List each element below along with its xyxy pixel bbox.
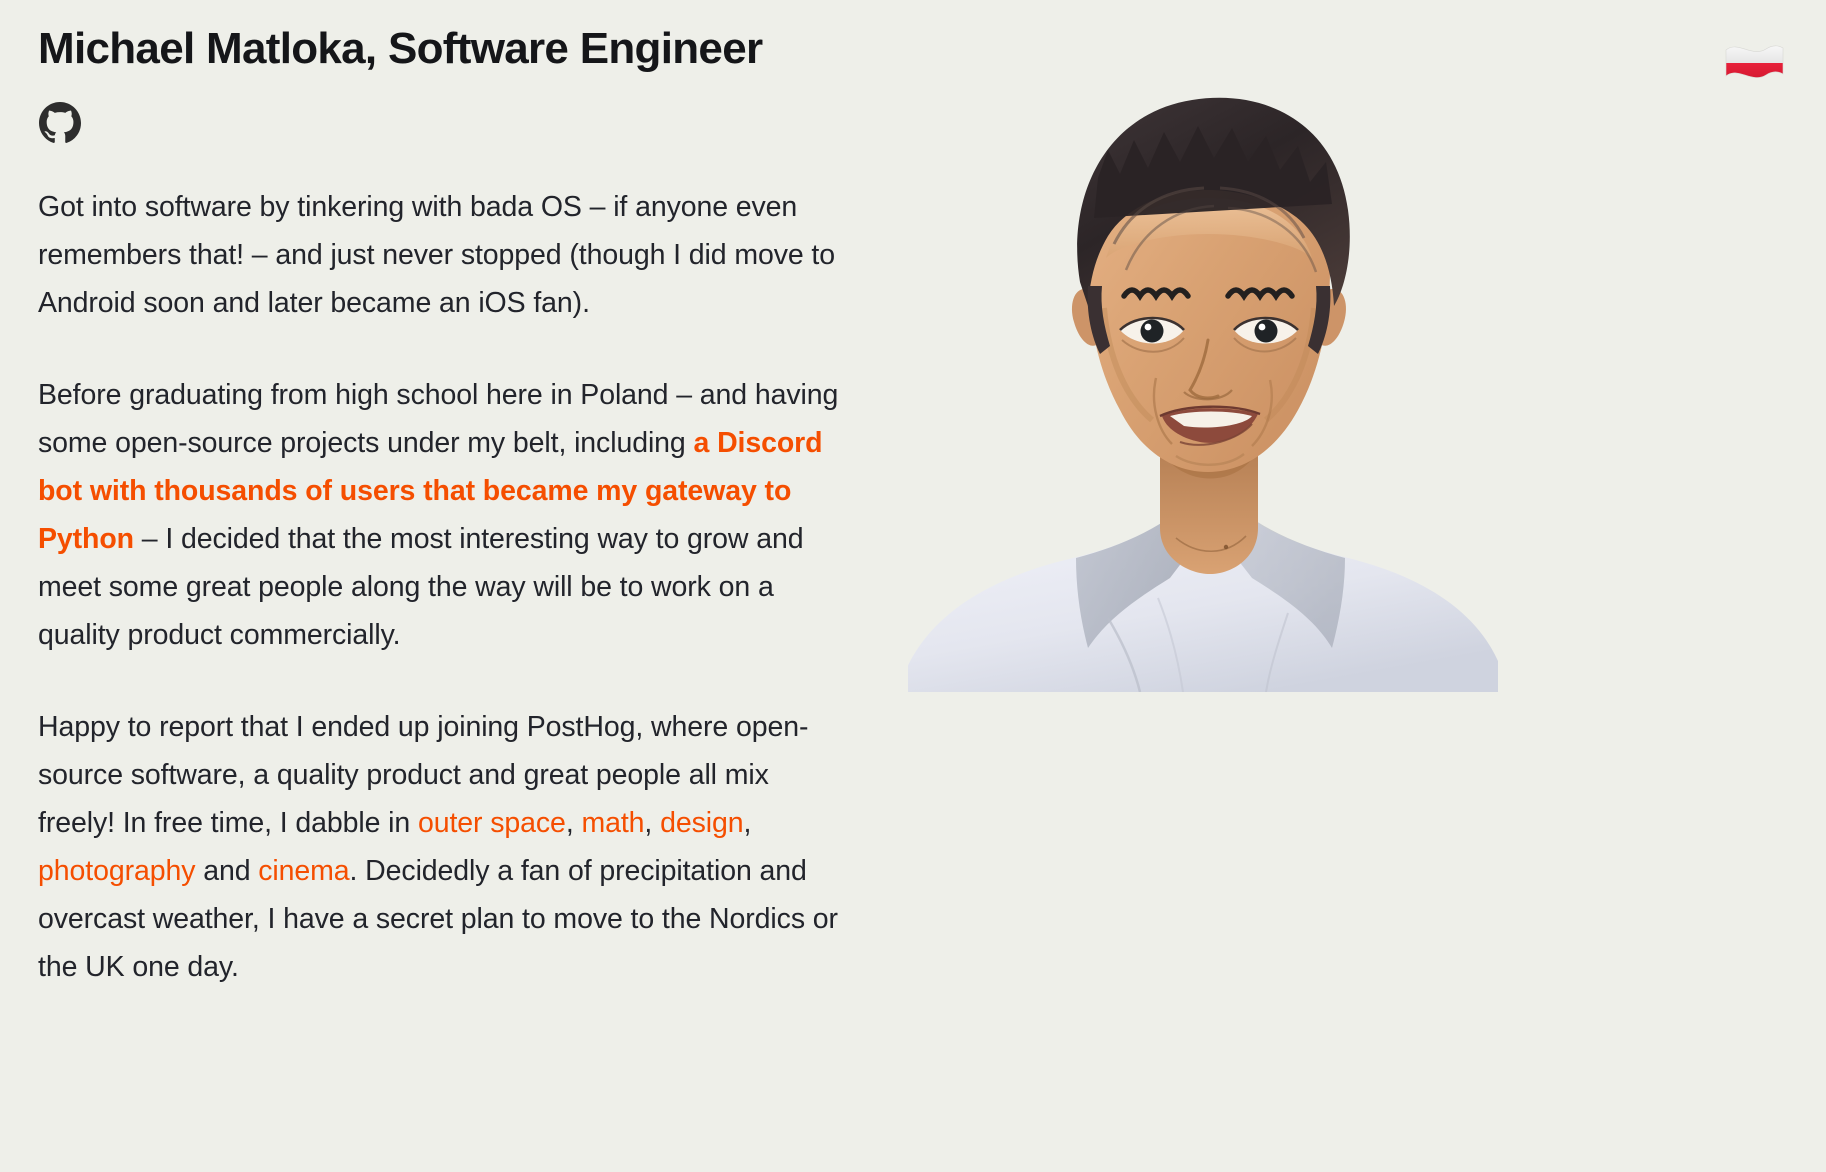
paragraph-text: and <box>195 855 258 887</box>
link-outer-space[interactable]: outer space <box>418 807 566 839</box>
link-math[interactable]: math <box>581 807 644 839</box>
country-flag-poland-icon <box>1722 38 1786 88</box>
bio-paragraph-1: Got into software by tinkering with bada… <box>38 183 850 327</box>
paragraph-text: , <box>743 807 751 839</box>
paragraph-text: , <box>644 807 660 839</box>
bio-paragraph-2: Before graduating from high school here … <box>38 371 850 659</box>
github-icon[interactable] <box>38 101 82 145</box>
bio-left-column: Michael Matloka, Software Engineer Got i… <box>38 24 978 991</box>
link-photography[interactable]: photography <box>38 855 195 887</box>
paragraph-text: , <box>566 807 582 839</box>
social-links <box>38 101 978 145</box>
bio-paragraph-3: Happy to report that I ended up joining … <box>38 703 850 991</box>
member-portrait <box>908 58 1498 692</box>
link-cinema[interactable]: cinema <box>258 855 349 887</box>
link-design[interactable]: design <box>660 807 743 839</box>
paragraph-text: Got into software by tinkering with bada… <box>38 191 835 319</box>
bio-text: Got into software by tinkering with bada… <box>38 183 850 991</box>
bio-page: Michael Matloka, Software Engineer Got i… <box>0 0 1826 1172</box>
paragraph-text: – I decided that the most interesting wa… <box>38 523 803 651</box>
page-title: Michael Matloka, Software Engineer <box>38 24 978 75</box>
